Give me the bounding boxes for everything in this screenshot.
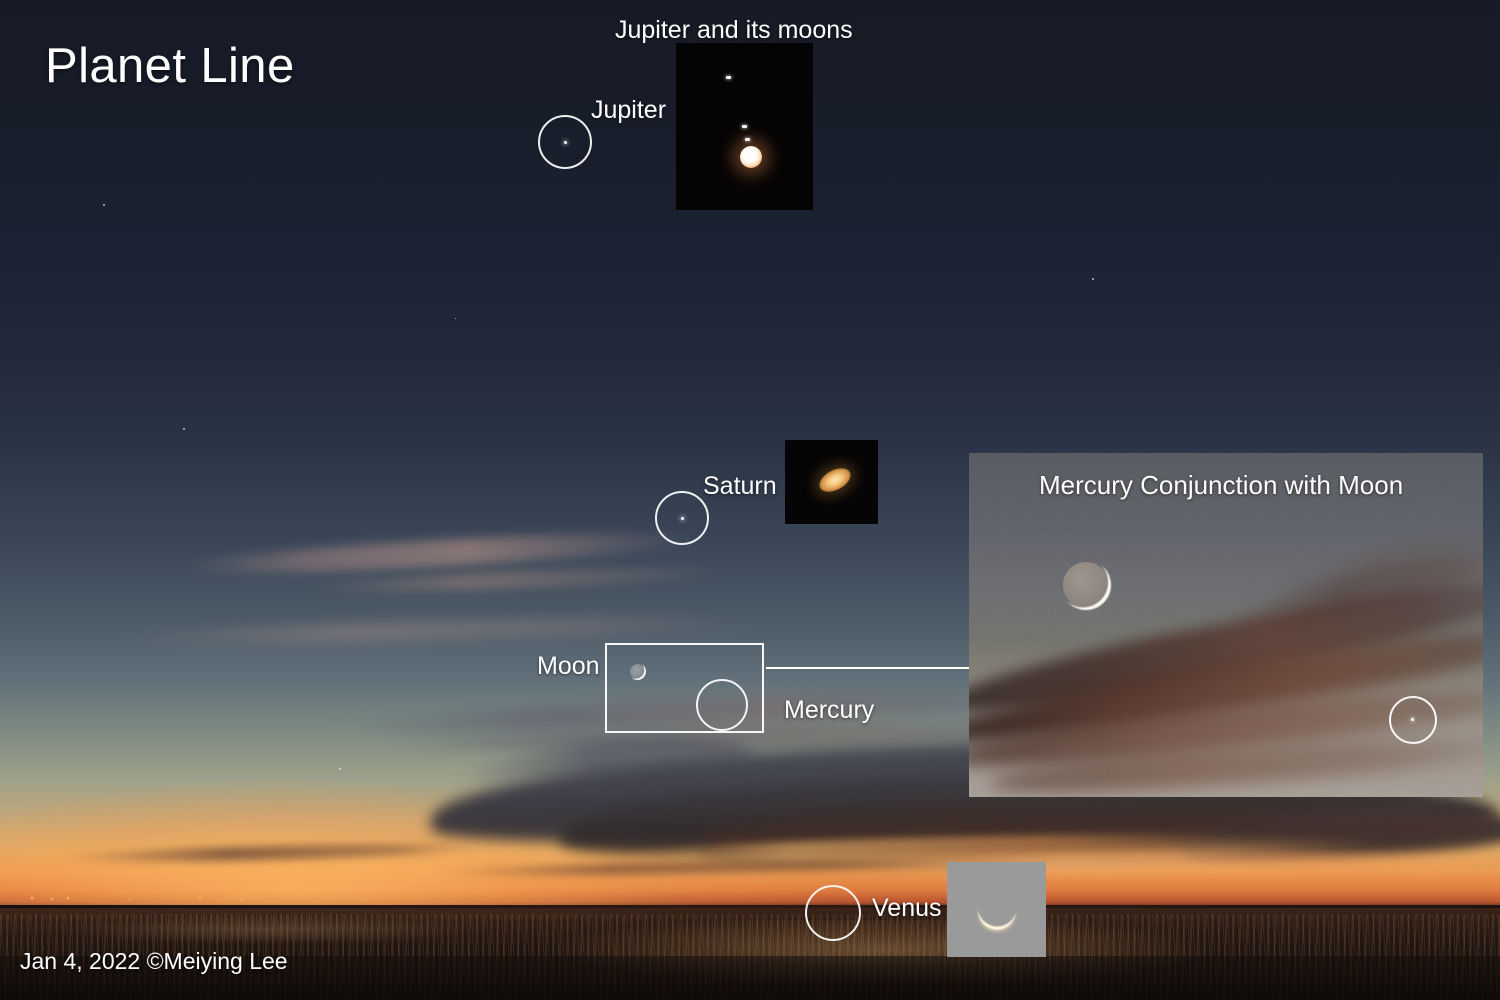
sea-glint	[40, 912, 560, 952]
jupiter-disc	[740, 146, 762, 168]
venus-label: Venus	[872, 894, 942, 923]
venus-inset-panel	[947, 862, 1046, 957]
jupiter-label: Jupiter	[591, 96, 666, 125]
saturn-inset-panel	[785, 440, 878, 524]
photo-caption: Jan 4, 2022 ©Meiying Lee	[20, 948, 288, 975]
saturn-disc-with-rings	[815, 463, 854, 497]
jupiter-moon	[745, 138, 750, 141]
jupiter-moon	[726, 76, 731, 79]
planet-line-composite: Planet Line Jupiter Jupiter and its moon…	[0, 0, 1500, 1000]
saturn-sky-dot	[681, 517, 684, 520]
callout-arrow-line	[766, 667, 998, 669]
panel-mercury-dot	[1411, 718, 1414, 721]
jupiter-inset-title: Jupiter and its moons	[615, 16, 853, 45]
moon-label: Moon	[537, 652, 600, 681]
mercury-panel-title: Mercury Conjunction with Moon	[1039, 470, 1403, 501]
mercury-conjunction-panel: Mercury Conjunction with Moon	[969, 453, 1483, 797]
jupiter-moon	[742, 125, 747, 128]
page-title: Planet Line	[45, 38, 295, 94]
saturn-label: Saturn	[703, 472, 777, 501]
coast-lights	[10, 893, 340, 903]
jupiter-inset-panel	[676, 43, 813, 210]
mercury-marker-circle	[696, 679, 748, 731]
jupiter-sky-dot	[564, 141, 567, 144]
mercury-label: Mercury	[784, 696, 874, 725]
panel-grain-texture	[969, 453, 1483, 797]
venus-marker-circle	[805, 885, 861, 941]
